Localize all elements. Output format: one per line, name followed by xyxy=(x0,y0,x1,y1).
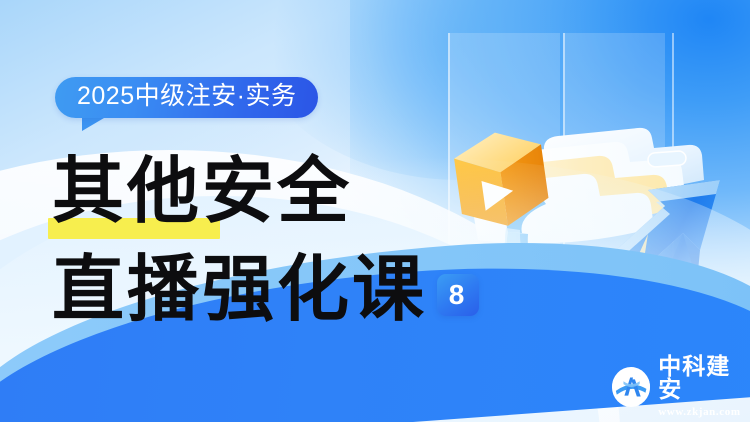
logo-company-name: 中科建安 xyxy=(658,356,750,402)
brand-logo: 中科建安 www.zkjan.com xyxy=(612,356,750,418)
course-promo-banner: 2025中级注安·实务 其他安全 直播强化课 8 中科建安 www.zkjan.… xyxy=(0,0,750,422)
episode-number-badge: 8 xyxy=(437,274,479,316)
course-subject-badge: 2025中级注安·实务 xyxy=(55,77,318,118)
badge-tail xyxy=(82,118,104,131)
headline-line-2: 直播强化课 xyxy=(52,253,427,325)
logo-website-url: www.zkjan.com xyxy=(658,407,750,418)
logo-text-group: 中科建安 www.zkjan.com xyxy=(658,356,750,418)
headline-line-2-wrap: 直播强化课 8 xyxy=(52,253,479,325)
headline-line-1: 其他安全 xyxy=(52,155,352,227)
logo-emblem-icon xyxy=(612,367,650,407)
